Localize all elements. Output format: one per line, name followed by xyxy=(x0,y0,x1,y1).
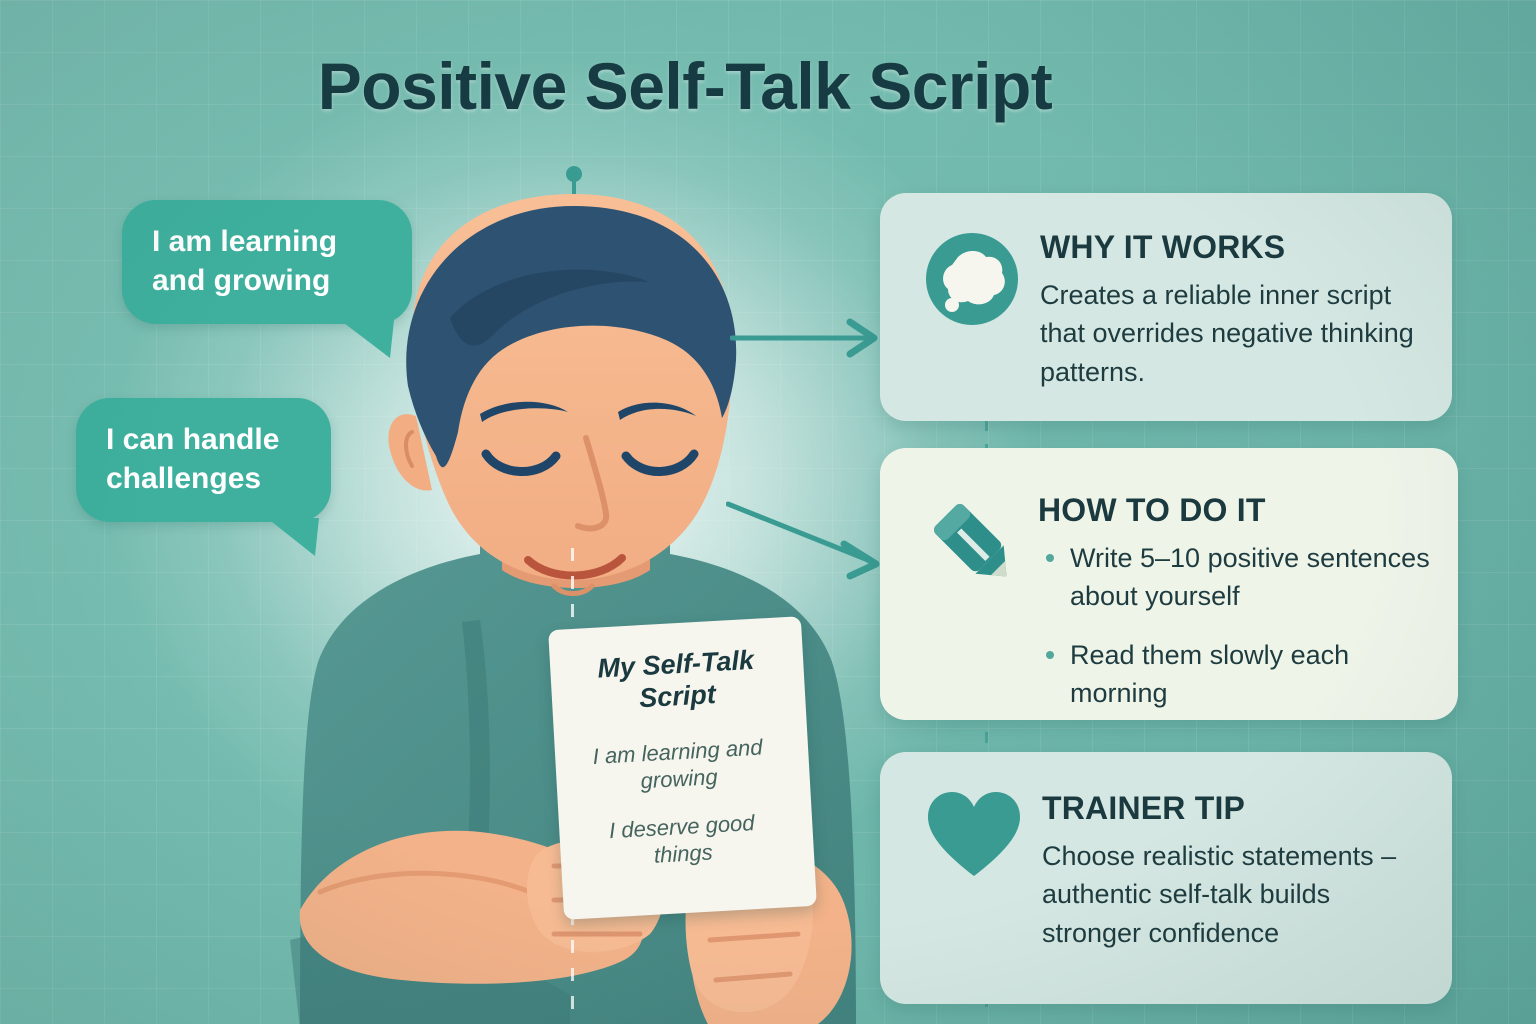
list-item: Read them slowly each morning xyxy=(1038,636,1432,713)
speech-bubble-handle-challenges: I can handle challenges xyxy=(76,398,331,522)
speech-bubble-tail xyxy=(336,320,394,358)
card-bullet-list: Write 5–10 positive sentences about your… xyxy=(1038,539,1432,712)
arrow-to-why-it-works xyxy=(730,312,890,364)
speech-bubble-learning-growing: I am learning and growing xyxy=(122,200,412,324)
card-how-to-do-it[interactable]: HOW TO DO IT Write 5–10 positive sentenc… xyxy=(880,448,1458,720)
note-card-title: My Self-Talk Script xyxy=(576,643,784,718)
thought-bubble-icon xyxy=(922,229,1022,329)
heart-icon xyxy=(924,788,1024,882)
note-card-line: I deserve good things xyxy=(585,808,793,873)
list-item: Write 5–10 positive sentences about your… xyxy=(1038,539,1432,616)
note-card-line: I am learning and growing xyxy=(581,733,789,798)
speech-bubble-text: I can handle challenges xyxy=(106,423,279,495)
speech-bubble-tail xyxy=(263,518,319,556)
card-title: TRAINER TIP xyxy=(1042,790,1422,827)
card-content: WHY IT WORKS Creates a reliable inner sc… xyxy=(1040,229,1422,391)
card-why-it-works[interactable]: WHY IT WORKS Creates a reliable inner sc… xyxy=(880,193,1452,421)
pencil-icon xyxy=(920,490,1028,598)
card-title: WHY IT WORKS xyxy=(1040,229,1422,266)
held-note-card: My Self-Talk Script I am learning and gr… xyxy=(548,616,817,920)
card-icon-slot xyxy=(920,490,1038,603)
page-title: Positive Self-Talk Script xyxy=(0,48,1370,124)
speech-bubble-text: I am learning and growing xyxy=(152,225,337,297)
card-icon-slot xyxy=(924,788,1042,887)
arrow-to-how-to-do-it xyxy=(726,498,894,580)
card-description: Creates a reliable inner script that ove… xyxy=(1040,276,1422,391)
card-trainer-tip[interactable]: TRAINER TIP Choose realistic statements … xyxy=(880,752,1452,1004)
card-title: HOW TO DO IT xyxy=(1038,492,1432,529)
card-description: Choose realistic statements – authentic … xyxy=(1042,837,1402,952)
infographic-canvas: Positive Self-Talk Script I am learning … xyxy=(0,0,1536,1024)
card-content: TRAINER TIP Choose realistic statements … xyxy=(1042,788,1422,952)
card-icon-slot xyxy=(922,229,1040,334)
card-content: HOW TO DO IT Write 5–10 positive sentenc… xyxy=(1038,490,1432,732)
